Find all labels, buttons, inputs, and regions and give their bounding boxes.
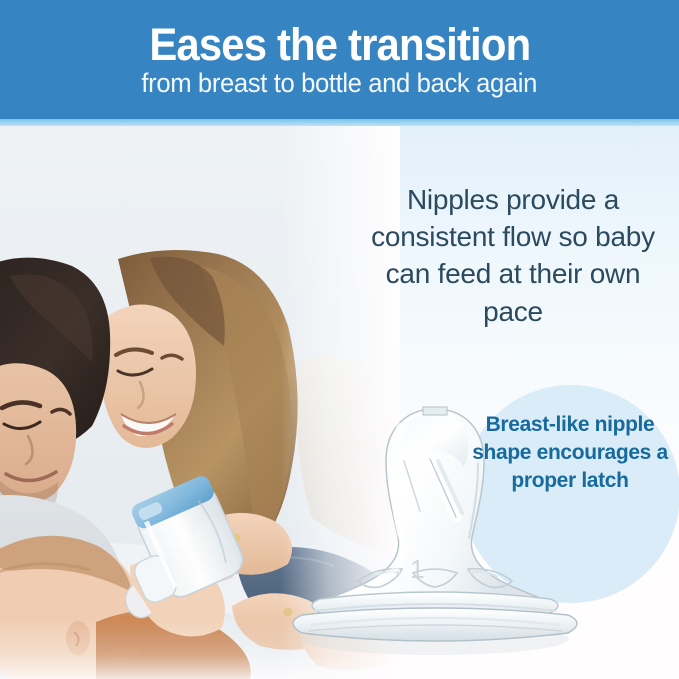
- header-banner: Eases the transition from breast to bott…: [0, 0, 679, 119]
- page-subtitle: from breast to bottle and back again: [142, 69, 538, 97]
- content-area: Nipples provide a consistent flow so bab…: [0, 126, 679, 679]
- header-accent-strip: [0, 119, 679, 126]
- callout-text: Breast-like nipple shape encourages a pr…: [470, 411, 670, 495]
- nipple-size-marking: 1: [410, 554, 424, 585]
- page-title: Eases the transition: [149, 22, 530, 68]
- feature-description-text: Nipples provide a consistent flow so bab…: [368, 181, 658, 330]
- product-feature-poster: Eases the transition from breast to bott…: [0, 0, 679, 679]
